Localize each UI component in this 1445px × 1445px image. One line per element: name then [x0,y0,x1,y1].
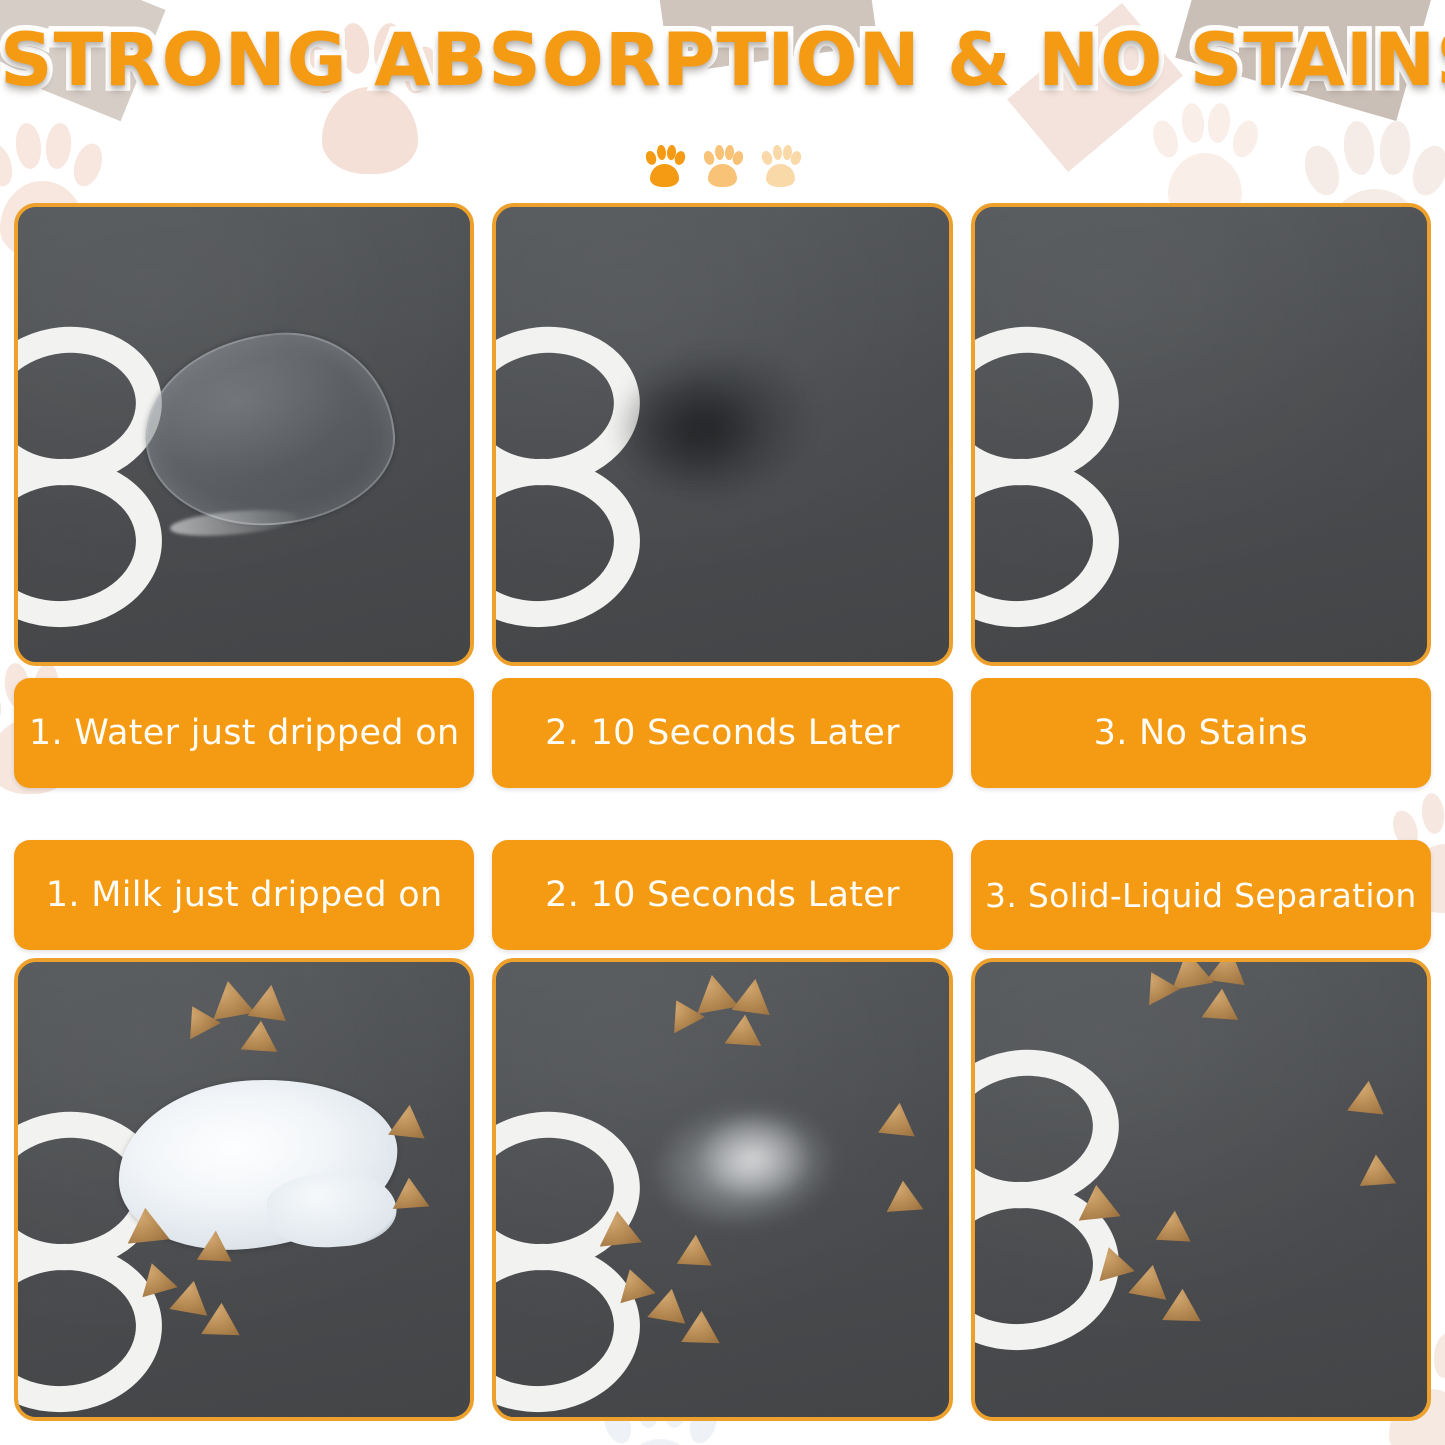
water-caption-2-cell: 2. 10 Seconds Later [492,678,952,788]
pet-mat-surface [975,962,1427,1417]
caption-water-step-2: 2. 10 Seconds Later [492,678,952,788]
caption-text: 1. Milk just dripped on [46,878,443,913]
caption-milk-step-3: 3. Solid-Liquid Separation [971,840,1431,950]
caption-text: 2. 10 Seconds Later [545,878,900,913]
milk-caption-3-cell: 3. Solid-Liquid Separation [971,840,1431,950]
paw-print-icon [703,144,743,188]
page-title: STRONG ABSORPTION & NO STAINS [0,24,1445,97]
pet-mat-surface [18,962,470,1417]
photo-water-fresh-droplet [14,203,474,666]
caption-text: 2. 10 Seconds Later [545,716,900,751]
caption-water-step-1: 1. Water just dripped on [14,678,474,788]
caption-water-step-3: 3. No Stains [971,678,1431,788]
pet-mat-surface [496,962,948,1417]
caption-text: 1. Water just dripped on [29,716,460,751]
photo-milk-fresh-spill [14,958,474,1421]
caption-text: 3. No Stains [1094,716,1308,751]
water-caption-1-cell: 1. Water just dripped on [14,678,474,788]
photo-milk-absorbing [492,958,952,1421]
photo-milk-separated [971,958,1431,1421]
photo-water-absorbing [492,203,952,666]
water-caption-3-cell: 3. No Stains [971,678,1431,788]
photo-water-no-stain [971,203,1431,666]
header: STRONG ABSORPTION & NO STAINS [0,0,1445,200]
caption-milk-step-2: 2. 10 Seconds Later [492,840,952,950]
milk-test-photo-row [14,958,1431,1421]
water-step-2-cell [492,203,952,666]
water-step-3-cell [971,203,1431,666]
paw-print-icon [645,144,685,188]
milk-step-1-cell [14,958,474,1421]
pet-mat-surface [18,207,470,662]
milk-caption-2-cell: 2. 10 Seconds Later [492,840,952,950]
water-test-photo-row [14,203,1431,666]
water-step-1-cell [14,203,474,666]
caption-milk-step-1: 1. Milk just dripped on [14,840,474,950]
caption-text: 3. Solid-Liquid Separation [985,879,1417,912]
milk-step-2-cell [492,958,952,1421]
paw-divider [0,140,1445,192]
paw-print-icon [761,144,801,188]
milk-caption-1-cell: 1. Milk just dripped on [14,840,474,950]
milk-test-caption-row: 1. Milk just dripped on 2. 10 Seconds La… [14,840,1431,950]
pet-mat-surface [975,207,1427,662]
milk-step-3-cell [971,958,1431,1421]
pet-mat-surface [496,207,948,662]
water-test-caption-row: 1. Water just dripped on 2. 10 Seconds L… [14,678,1431,788]
